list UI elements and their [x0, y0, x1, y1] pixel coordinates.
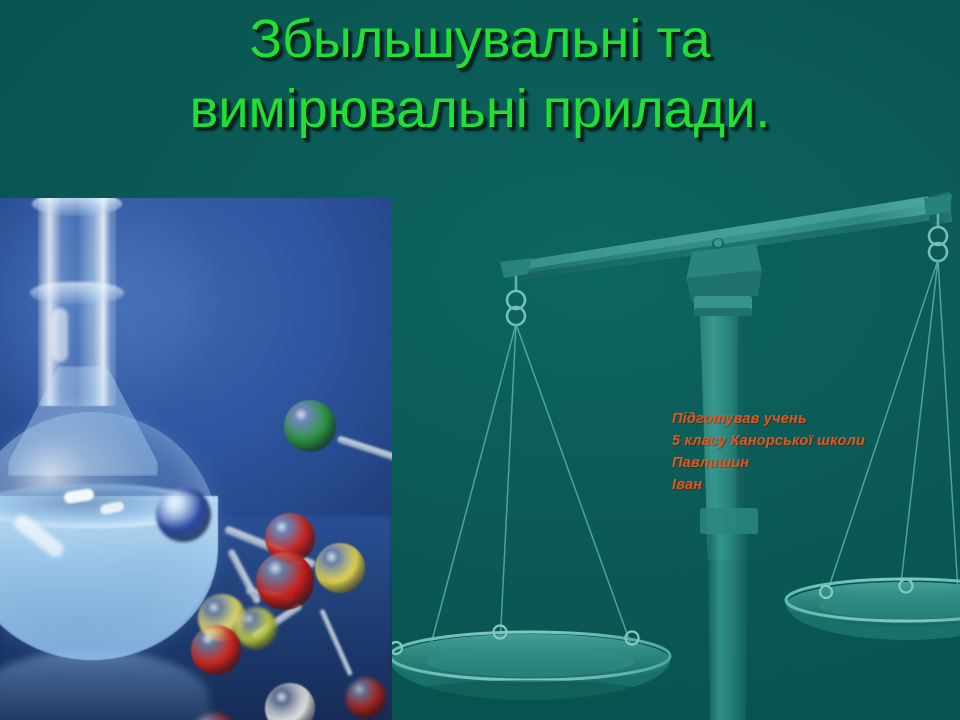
- title-line-1: Збыльшувальні та: [0, 4, 960, 74]
- red-sphere-lower: [256, 552, 314, 610]
- green-sphere: [284, 400, 336, 452]
- presentation-slide: Збыльшувальні та вимірювальні прилади.: [0, 0, 960, 720]
- byline-line-1: Підготував учень: [672, 408, 865, 430]
- chemistry-photo: [0, 198, 392, 720]
- flask-collar: [30, 282, 124, 304]
- yellow-green-sphere: [235, 607, 277, 649]
- blue-sphere: [156, 487, 211, 542]
- byline-line-2: 5 класу Канорської школи: [672, 430, 865, 452]
- slide-title: Збыльшувальні та вимірювальні прилади.: [0, 4, 960, 144]
- title-line-2: вимірювальні прилади.: [0, 74, 960, 144]
- yellow-sphere-right: [315, 543, 365, 593]
- glass-highlight: [52, 308, 68, 362]
- byline-line-4: Іван: [672, 474, 865, 496]
- red-sphere-edge: [346, 678, 386, 718]
- byline-line-3: Павлишин: [672, 452, 865, 474]
- author-byline: Підготував учень 5 класу Канорської школ…: [672, 408, 865, 496]
- red-sphere-center: [191, 625, 241, 675]
